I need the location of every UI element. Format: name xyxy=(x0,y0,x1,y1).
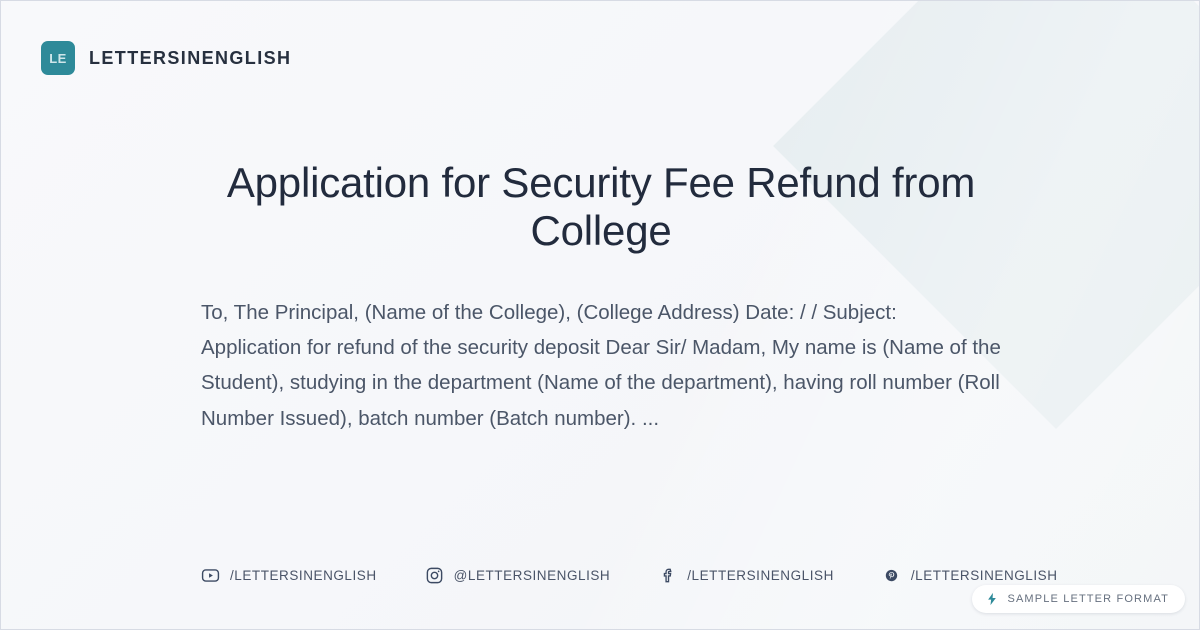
social-link-facebook[interactable]: /LETTERSINENGLISH xyxy=(658,566,834,585)
main-text-block: Application for Security Fee Refund from… xyxy=(201,159,1001,436)
instagram-icon xyxy=(425,566,444,585)
social-link-instagram[interactable]: @LETTERSINENGLISH xyxy=(425,566,611,585)
social-share-card: LE LETTERSINENGLISH Application for Secu… xyxy=(0,0,1200,630)
article-excerpt: To, The Principal, (Name of the College)… xyxy=(201,295,1001,436)
brand-name-label: LETTERSINENGLISH xyxy=(89,48,291,69)
social-link-pinterest[interactable]: /LETTERSINENGLISH xyxy=(882,566,1058,585)
lightning-bolt-icon xyxy=(985,592,999,606)
social-link-youtube[interactable]: /LETTERSINENGLISH xyxy=(201,566,377,585)
brand-logo-mark: LE xyxy=(41,41,75,75)
social-handle-label: /LETTERSINENGLISH xyxy=(230,568,377,583)
brand-header[interactable]: LE LETTERSINENGLISH xyxy=(41,41,291,75)
status-badge-label: SAMPLE LETTER FORMAT xyxy=(1007,593,1169,605)
youtube-icon xyxy=(201,566,220,585)
page-title: Application for Security Fee Refund from… xyxy=(201,159,1001,255)
social-links-bar: /LETTERSINENGLISH @LETTERSINENGLISH xyxy=(201,566,1058,585)
social-handle-label: /LETTERSINENGLISH xyxy=(911,568,1058,583)
facebook-icon xyxy=(658,566,677,585)
pinterest-icon xyxy=(882,566,901,585)
card-content: LE LETTERSINENGLISH Application for Secu… xyxy=(1,1,1199,629)
status-badge[interactable]: SAMPLE LETTER FORMAT xyxy=(972,585,1185,613)
social-handle-label: /LETTERSINENGLISH xyxy=(687,568,834,583)
social-handle-label: @LETTERSINENGLISH xyxy=(454,568,611,583)
